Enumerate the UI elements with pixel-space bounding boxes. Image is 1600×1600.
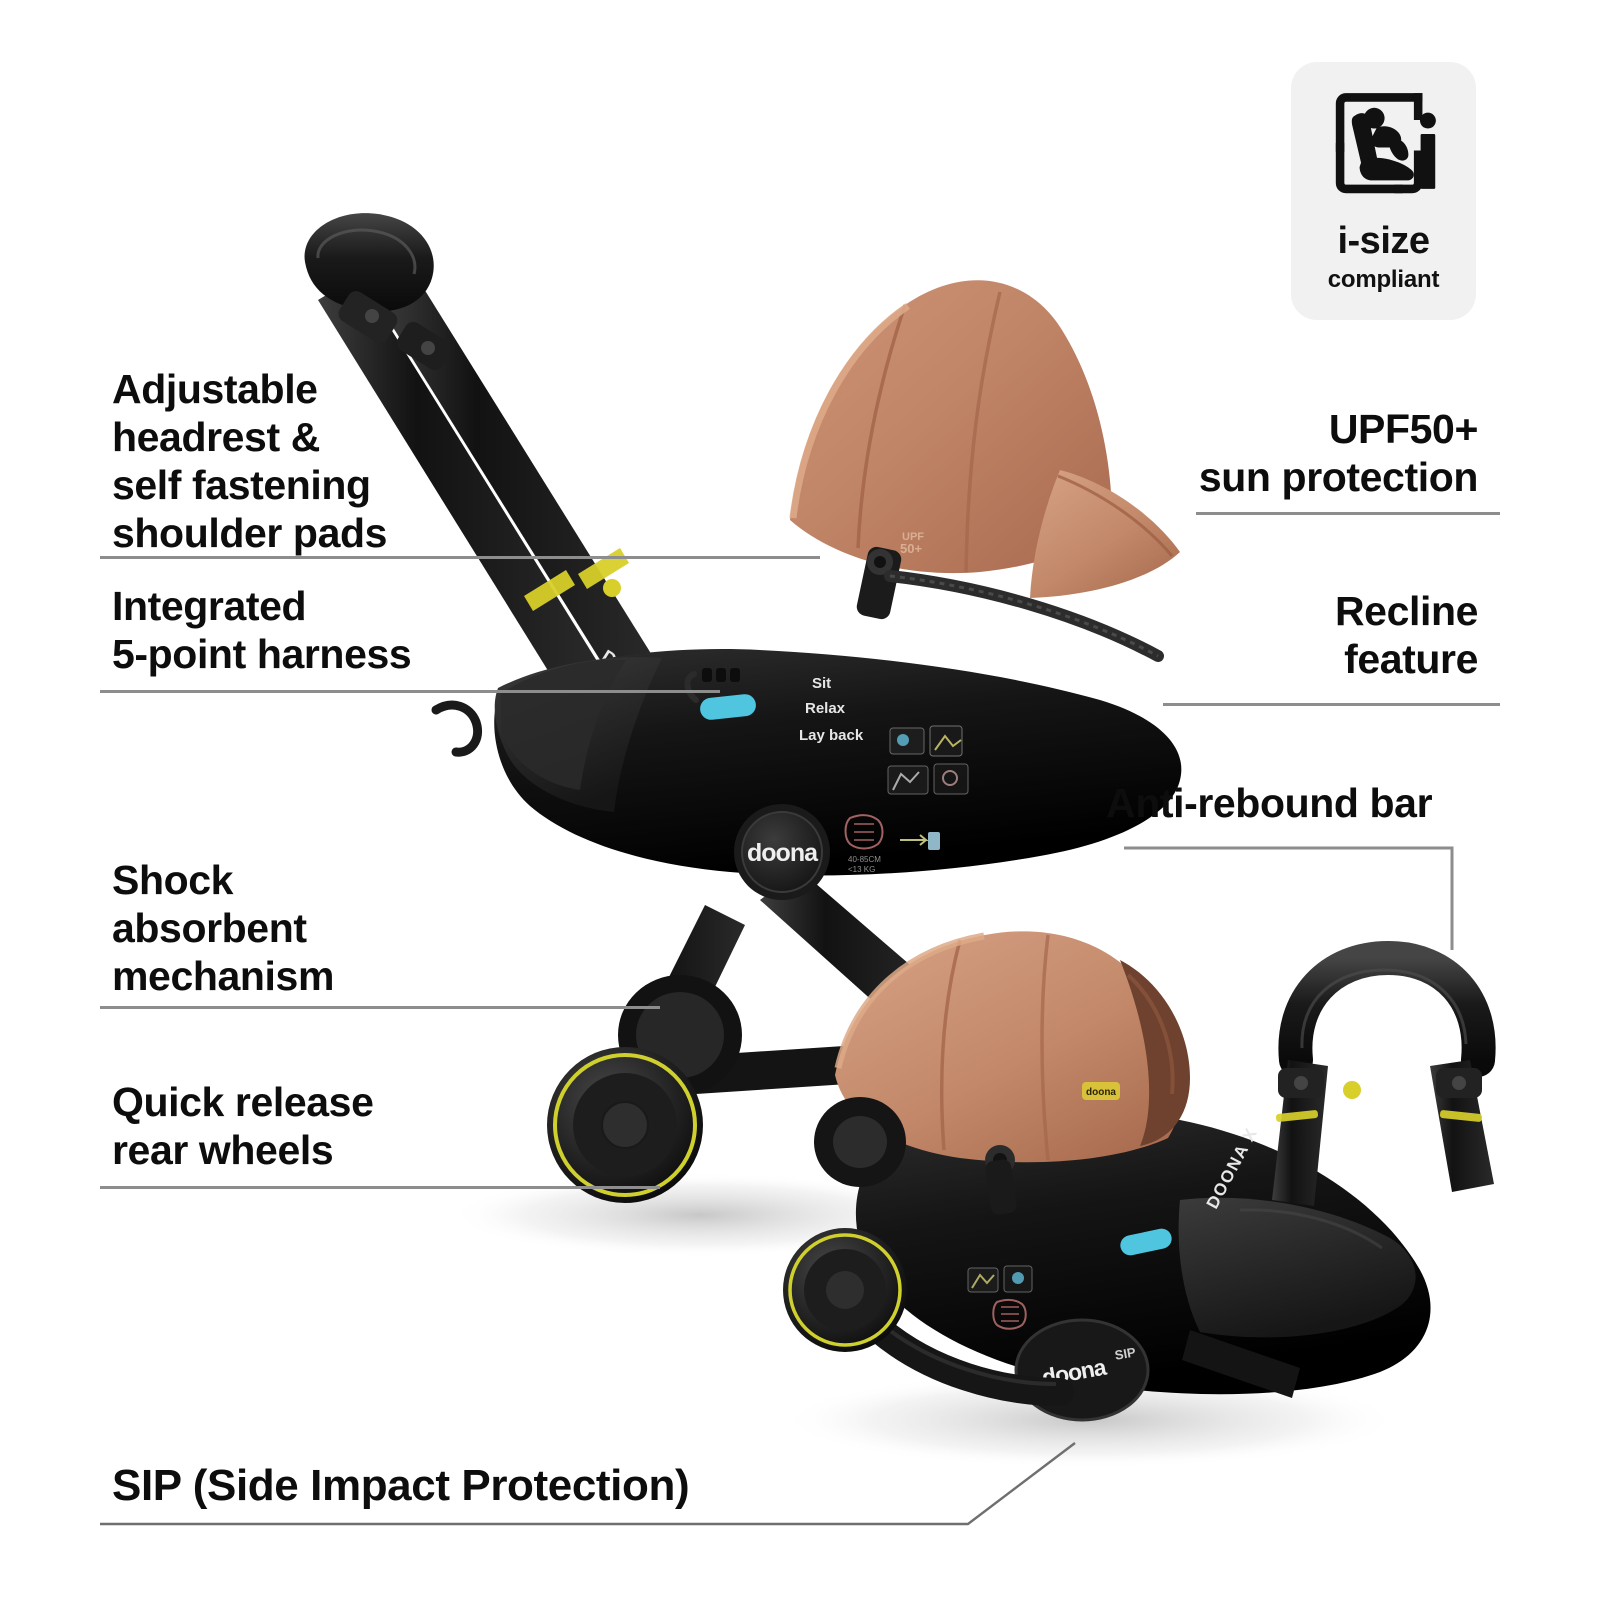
i-size-compliant-label: compliant xyxy=(1328,266,1440,294)
divider-integrated-harness xyxy=(100,690,720,693)
divider-upf xyxy=(1196,512,1500,515)
svg-text:40-85CM: 40-85CM xyxy=(848,855,881,864)
i-size-compliant-badge: i-size compliant xyxy=(1291,62,1476,320)
i-size-label: i-size xyxy=(1337,220,1429,263)
annotation-integrated-harness: Integrated 5-point harness xyxy=(112,583,532,679)
svg-text:50+: 50+ xyxy=(900,541,922,556)
folded-seat-fabric xyxy=(1179,1198,1416,1338)
stroller-folded: doona xyxy=(783,931,1494,1420)
annotation-adjustable-headrest: Adjustable headrest & self fastening sho… xyxy=(112,366,512,558)
annotation-shock-absorbent: Shock absorbent mechanism xyxy=(112,857,472,1001)
svg-text:Lay back: Lay back xyxy=(799,727,864,744)
annotation-upf-sun-protection: UPF50+ sun protection xyxy=(958,406,1478,502)
divider-recline xyxy=(1163,703,1500,706)
svg-text:Relax: Relax xyxy=(805,700,846,717)
svg-text:doona: doona xyxy=(1086,1087,1116,1098)
annotation-anti-rebound-bar: Anti-rebound bar xyxy=(1106,780,1526,828)
canopy-doona-tag: doona xyxy=(1082,1082,1120,1100)
infographic-canvas: DOONA X xyxy=(0,0,1600,1600)
doona-logo-badge-main: doona xyxy=(734,804,830,900)
annotation-quick-release: Quick release rear wheels xyxy=(112,1079,512,1175)
divider-shock-absorbent xyxy=(100,1006,660,1009)
annotation-side-impact-protection: SIP (Side Impact Protection) xyxy=(112,1460,812,1511)
svg-text:<13 KG: <13 KG xyxy=(848,865,875,874)
divider-quick-release xyxy=(100,1186,660,1189)
svg-text:doona: doona xyxy=(747,839,819,867)
i-size-child-seat-icon xyxy=(1323,84,1445,206)
annotation-recline-feature: Recline feature xyxy=(1058,588,1478,684)
handle-release-button xyxy=(603,579,621,597)
svg-text:Sit: Sit xyxy=(812,675,831,692)
